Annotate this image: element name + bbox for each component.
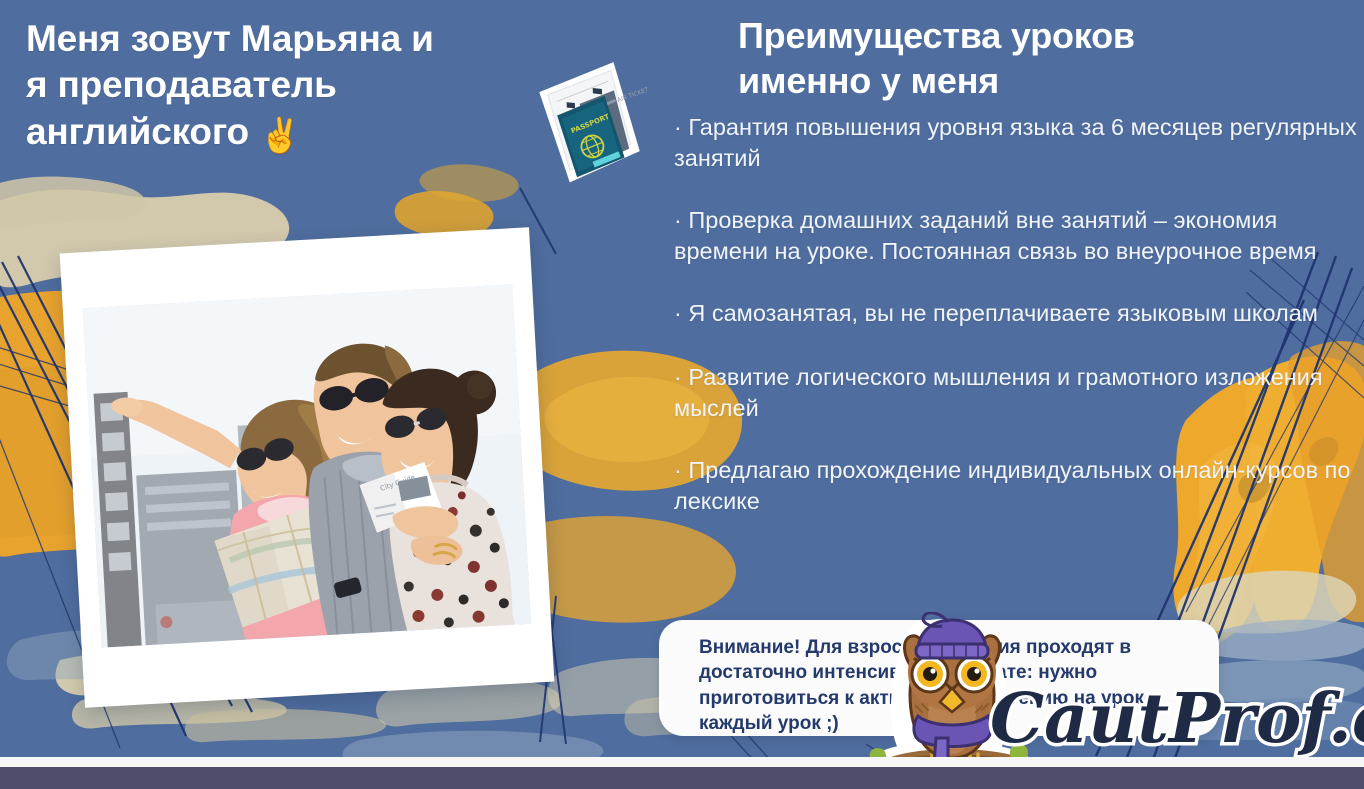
passport-tickets-sticker: BOARDING PASS AIR TICKET PASSPORT [527, 55, 647, 195]
polaroid-photo-tourists: City Guide [83, 284, 531, 647]
watermark-text: CautProf.com [990, 679, 1364, 759]
benefit-item: · Проверка домашних заданий вне занятий … [674, 205, 1364, 267]
left-heading-line-3: английского [26, 111, 249, 152]
bottom-bar [0, 767, 1364, 789]
right-heading-line-2: именно у меня [738, 59, 1338, 104]
benefit-item: · Развитие логического мышления и грамот… [674, 362, 1364, 424]
left-heading: Меня зовут Марьяна и я преподаватель анг… [26, 16, 546, 157]
benefit-item: · Гарантия повышения уровня языка за 6 м… [674, 112, 1364, 174]
polaroid-frame: City Guide [60, 227, 555, 708]
left-heading-line-1: Меня зовут Марьяна и [26, 16, 546, 62]
left-heading-line-2: я преподаватель [26, 62, 546, 108]
benefit-item: · Я самозанятая, вы не переплачиваете яз… [674, 298, 1364, 329]
slide-canvas: Меня зовут Марьяна и я преподаватель анг… [0, 0, 1364, 789]
left-heading-line-3-wrap: английского ✌ [26, 109, 546, 158]
benefit-item: · Предлагаю прохождение индивидуальных о… [674, 455, 1364, 517]
right-heading-line-1: Преимущества уроков [738, 14, 1338, 59]
right-heading: Преимущества уроков именно у меня [738, 14, 1338, 103]
left-column: Меня зовут Марьяна и я преподаватель анг… [0, 0, 660, 789]
bottom-white-gap [0, 757, 1364, 767]
benefits-list: · Гарантия повышения уровня языка за 6 м… [674, 112, 1364, 517]
victory-hand-emoji: ✌ [259, 115, 301, 158]
watermark-cautprof: CautProf.com [986, 670, 1364, 770]
